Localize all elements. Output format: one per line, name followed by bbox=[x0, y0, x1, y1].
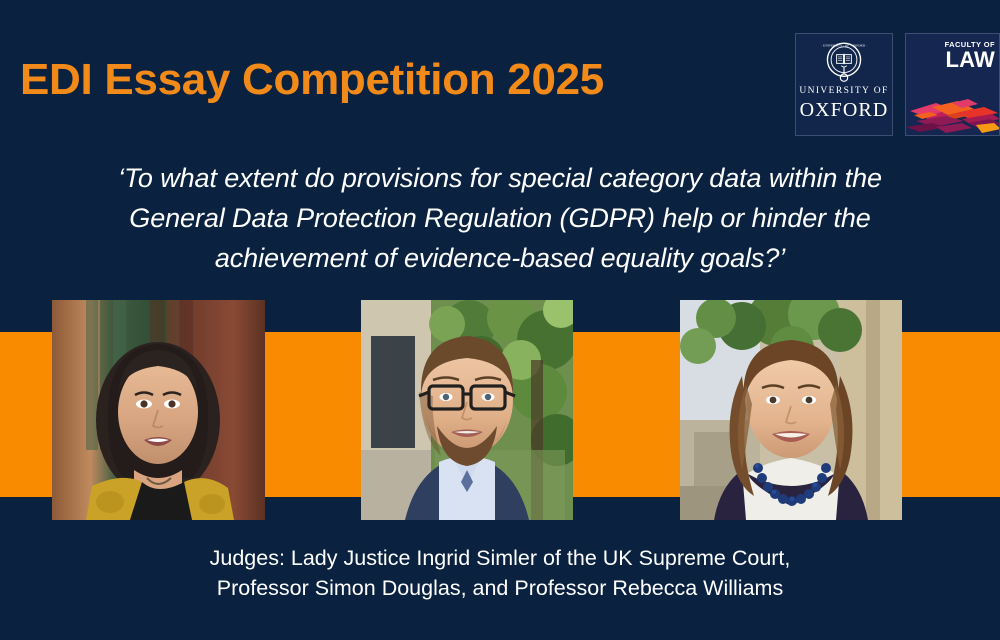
edi-essay-competition-poster: EDI Essay Competition 2025 · UNIVERSITY … bbox=[0, 0, 1000, 640]
faculty-of-law-wordmark: FACULTY OF LAW bbox=[945, 41, 995, 71]
judge-photo-ingrid-simler bbox=[52, 300, 265, 520]
oxford-logo-line1: UNIVERSITY OF bbox=[796, 86, 892, 97]
judge-photo-rebecca-williams bbox=[680, 300, 902, 520]
law-geometric-art-icon bbox=[906, 83, 1000, 135]
judges-line-1: Judges: Lady Justice Ingrid Simler of th… bbox=[100, 543, 900, 573]
quote-line-1: ‘To what extent do provisions for specia… bbox=[50, 158, 950, 198]
logo-bar: · UNIVERSITY · OF · OXFORD · bbox=[795, 33, 1000, 136]
quote-line-2: General Data Protection Regulation (GDPR… bbox=[50, 198, 950, 238]
quote-line-3: achievement of evidence-based equality g… bbox=[50, 238, 950, 278]
faculty-of-law-logo: FACULTY OF LAW bbox=[905, 33, 1000, 136]
oxford-crest-icon: · UNIVERSITY · OF · OXFORD · bbox=[821, 39, 867, 85]
law-logo-line2: LAW bbox=[945, 49, 995, 71]
essay-question-quote: ‘To what extent do provisions for specia… bbox=[50, 158, 950, 278]
oxford-wordmark: UNIVERSITY OF OXFORD bbox=[796, 86, 892, 124]
svg-text:· UNIVERSITY · OF · OXFORD ·: · UNIVERSITY · OF · OXFORD · bbox=[821, 43, 867, 47]
oxford-logo-line2: OXFORD bbox=[796, 97, 892, 124]
page-title: EDI Essay Competition 2025 bbox=[20, 55, 604, 106]
judges-line-2: Professor Simon Douglas, and Professor R… bbox=[100, 573, 900, 603]
university-of-oxford-logo: · UNIVERSITY · OF · OXFORD · bbox=[795, 33, 893, 136]
judges-caption: Judges: Lady Justice Ingrid Simler of th… bbox=[100, 543, 900, 603]
judge-photo-simon-douglas bbox=[361, 300, 573, 520]
